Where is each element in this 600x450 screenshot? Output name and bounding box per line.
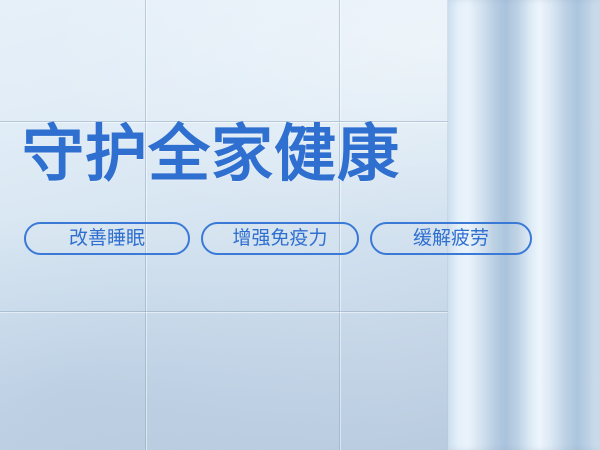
benefit-tag-row: 改善睡眠 增强免疫力 缓解疲劳 xyxy=(24,222,532,255)
grid-line-horizontal-2-highlight xyxy=(0,312,600,313)
page-title: 守护全家健康 xyxy=(22,122,400,186)
benefit-tag-relieve-fatigue[interactable]: 缓解疲劳 xyxy=(370,222,532,255)
benefit-tag-improve-sleep[interactable]: 改善睡眠 xyxy=(24,222,190,255)
poster-canvas: 守护全家健康 改善睡眠 增强免疫力 缓解疲劳 xyxy=(0,0,600,450)
benefit-tag-boost-immunity[interactable]: 增强免疫力 xyxy=(201,222,359,255)
grid-line-horizontal-2 xyxy=(0,311,600,312)
